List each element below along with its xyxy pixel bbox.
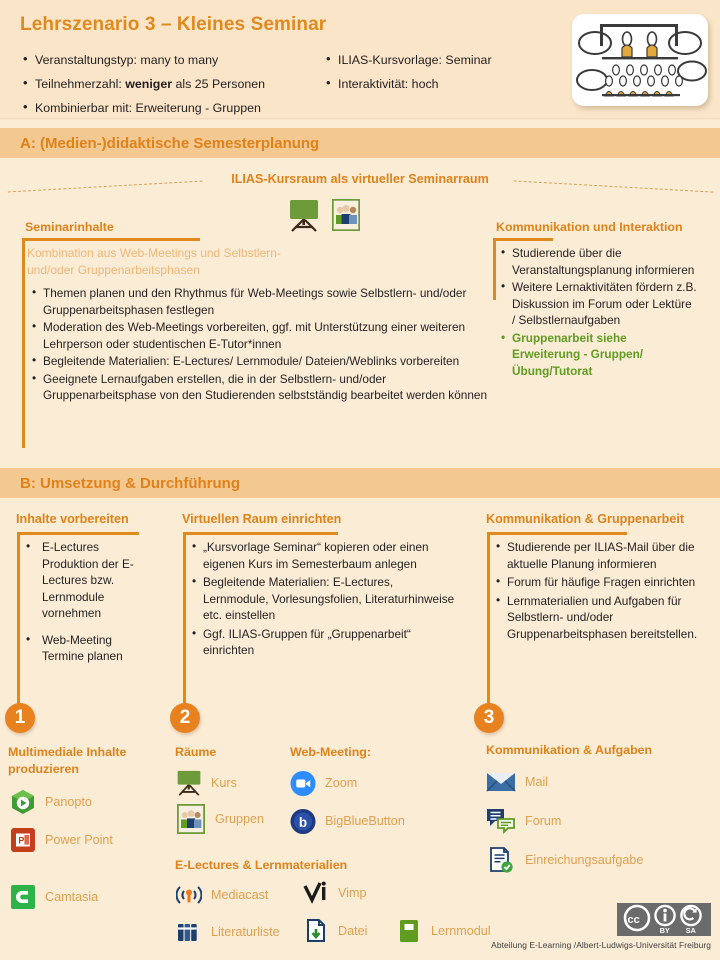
list-item: Moderation des Web-Meetings vorbereiten,… (32, 319, 487, 352)
tool-label: Datei (338, 924, 367, 938)
svg-text:cc: cc (628, 914, 640, 926)
meta-item-participants: Teilnehmerzahl: weniger als 25 Personen (22, 74, 332, 94)
list-item: E-Lectures Produktion der E-Lectures bzw… (26, 539, 156, 622)
toolgroup-1-heading: Multimediale Inhalte produzieren (8, 744, 168, 778)
list-item: Forum für häufige Fragen einrichten (496, 574, 711, 591)
seminar-room-diagram (572, 14, 708, 106)
meta-item: Veranstaltungstyp: many to many (22, 50, 332, 70)
tool-mediacast[interactable]: Mediacast (176, 882, 268, 908)
meta-item: Interaktivität: hoch (325, 74, 585, 94)
section-b-col2-list: „Kursvorlage Seminar“ kopieren oder eine… (192, 539, 462, 661)
board-icon (176, 770, 202, 796)
section-a-left-list: Themen planen und den Rhythmus für Web-M… (32, 285, 487, 405)
file-download-icon (303, 918, 329, 944)
section-b-col1-hbar (17, 532, 139, 535)
tool-gruppen[interactable]: Gruppen (176, 806, 264, 832)
meta-pre: Teilnehmerzahl: (35, 77, 125, 91)
section-a-right-list: Studierende über die Veranstaltungsplanu… (501, 245, 697, 380)
mail-icon (486, 769, 516, 795)
section-b-col3-hbar (487, 532, 627, 535)
books-icon (176, 919, 202, 945)
group-icon (176, 806, 206, 832)
powerpoint-icon: P (10, 827, 36, 853)
svg-text:b: b (299, 814, 307, 829)
list-item: Begleitende Materialien: E-Lectures, Ler… (192, 574, 462, 624)
meta-bold: weniger (125, 77, 172, 91)
page-title: Lehrszenario 3 – Kleines Seminar (20, 14, 326, 36)
learning-module-icon (396, 918, 422, 944)
section-b-col3-heading: Kommunikation & Gruppenarbeit (486, 512, 684, 526)
list-item: Begleitende Materialien: E-Lectures/ Ler… (32, 353, 487, 370)
forum-icon (486, 808, 516, 834)
list-item: Studierende per ILIAS-Mail über die aktu… (496, 539, 711, 572)
meta-item: Kombinierbar mit: Erweiterung - Gruppen (22, 98, 332, 118)
step-number-1: 1 (5, 703, 35, 733)
tool-label: Zoom (325, 776, 357, 790)
tool-label: Camtasia (45, 890, 98, 904)
section-a-left-heading: Seminarinhalte (25, 220, 114, 234)
tool-label: Gruppen (215, 812, 264, 826)
tool-label: Lernmodul (431, 924, 491, 938)
section-b-col2-hbar (183, 532, 338, 535)
bigbluebutton-icon: b (290, 808, 316, 834)
tool-label: Panopto (45, 795, 92, 809)
meta-item: ILIAS-Kursvorlage: Seminar (325, 50, 585, 70)
header-divider (0, 118, 720, 119)
step-number-3: 3 (474, 703, 504, 733)
tool-label: Kurs (211, 776, 237, 790)
zoom-icon (290, 770, 316, 796)
section-a-left-lead: Kombination aus Web-Meetings und Selbstl… (27, 245, 327, 279)
tool-kurs[interactable]: Kurs (176, 770, 237, 796)
svg-text:P: P (18, 836, 24, 846)
section-b-col1-vbar (17, 532, 20, 714)
tool-literaturliste[interactable]: Literaturliste (176, 919, 280, 945)
tool-powerpoint[interactable]: P Power Point (10, 827, 113, 853)
tool-zoom[interactable]: Zoom (290, 770, 357, 796)
section-b-col2-vbar (183, 532, 186, 714)
tool-panopto[interactable]: Panopto (10, 789, 92, 815)
section-b-col1-list: E-Lectures Produktion der E-Lectures bzw… (26, 539, 156, 667)
vimp-icon (303, 880, 329, 906)
group-icon (332, 199, 360, 236)
camtasia-icon (10, 884, 36, 910)
tool-vimp[interactable]: Vimp (303, 880, 366, 906)
list-item: Themen planen und den Rhythmus für Web-M… (32, 285, 487, 318)
poster-root: Lehrszenario 3 – Kleines Seminar Veranst… (0, 0, 720, 960)
list-item: Lernmaterialien und Aufgaben für Selbstl… (496, 593, 711, 643)
meta-list-right: ILIAS-Kursvorlage: Seminar Interaktivitä… (325, 50, 585, 98)
tool-label: Forum (525, 814, 561, 828)
toolgroup-4-heading: Kommunikation & Aufgaben (486, 742, 652, 759)
list-item: Studierende über die Veranstaltungsplanu… (501, 245, 697, 278)
svg-text:SA: SA (686, 926, 697, 935)
section-a-band: A: (Medien-)didaktische Semesterplanung (0, 128, 720, 158)
list-item: Web-Meeting Termine planen (26, 632, 156, 665)
tool-forum[interactable]: Forum (486, 808, 561, 834)
tool-bigbluebutton[interactable]: b BigBlueButton (290, 808, 405, 834)
tool-einreichungsaufgabe[interactable]: Einreichungsaufgabe (486, 847, 643, 873)
ilias-course-room-label: ILIAS-Kursraum als virtueller Seminarrau… (0, 172, 720, 186)
tool-label: Vimp (338, 886, 366, 900)
toolgroup-3-heading: Web-Meeting: (290, 744, 371, 761)
list-item: Ggf. ILIAS-Gruppen für „Gruppenarbeit“ e… (192, 626, 462, 659)
list-item-highlight: Gruppenarbeit siehe Erweiterung - Gruppe… (501, 330, 697, 380)
footer-credit: Abteilung E-Learning /Albert-Ludwigs-Uni… (491, 940, 711, 950)
list-item: Geeignete Lernaufgaben erstellen, die in… (32, 371, 487, 404)
toolgroup-2-heading: Räume (175, 744, 216, 761)
cc-license-badge: cc BY SA (617, 903, 711, 936)
list-item: „Kursvorlage Seminar“ kopieren oder eine… (192, 539, 462, 572)
tool-datei[interactable]: Datei (303, 918, 367, 944)
section-a-icon-pair (288, 198, 360, 237)
section-a-right-heading: Kommunikation und Interaktion (496, 220, 683, 234)
svg-text:BY: BY (660, 926, 670, 935)
tool-mail[interactable]: Mail (486, 769, 548, 795)
section-b-col1-heading: Inhalte vorbereiten (16, 512, 129, 526)
section-b-col3-vbar (487, 532, 490, 714)
tool-label: Mediacast (211, 888, 268, 902)
section-b-band: B: Umsetzung & Durchführung (0, 468, 720, 498)
tool-label: Mail (525, 775, 548, 789)
submission-task-icon (486, 847, 516, 873)
tool-label: Power Point (45, 833, 113, 847)
tool-label: Literaturliste (211, 925, 280, 939)
meta-post: als 25 Personen (172, 77, 265, 91)
step-number-2: 2 (170, 703, 200, 733)
tool-label: BigBlueButton (325, 814, 405, 828)
mediacast-icon (176, 882, 202, 908)
tool-lernmodul[interactable]: Lernmodul (396, 918, 491, 944)
section-b-col3-list: Studierende per ILIAS-Mail über die aktu… (496, 539, 711, 644)
tool-label: Einreichungsaufgabe (525, 853, 643, 867)
panopto-icon (10, 789, 36, 815)
list-item: Weitere Lernaktivitäten fördern z.B. Dis… (501, 279, 697, 329)
tool-camtasia[interactable]: Camtasia (10, 884, 98, 910)
meta-list-left: Veranstaltungstyp: many to many Teilnehm… (22, 50, 332, 122)
section-b-col2-heading: Virtuellen Raum einrichten (182, 512, 341, 526)
board-icon (288, 198, 320, 237)
poster-header: Lehrszenario 3 – Kleines Seminar Veranst… (0, 0, 720, 120)
toolgroup-2-subheading: E-Lectures & Lernmaterialien (175, 857, 347, 874)
